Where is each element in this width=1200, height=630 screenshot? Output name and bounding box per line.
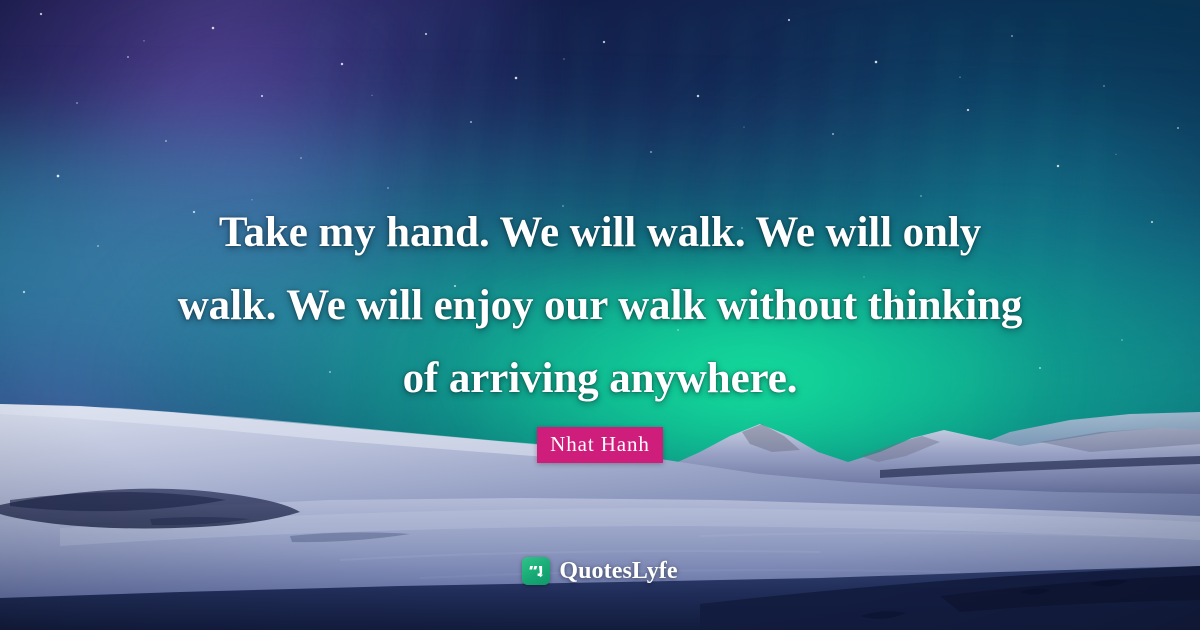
- quote-line-1: Take my hand. We will walk. We will only: [0, 196, 1200, 269]
- quote-line-2: walk. We will enjoy our walk without thi…: [0, 269, 1200, 342]
- quote-card: Take my hand. We will walk. We will only…: [0, 0, 1200, 630]
- quote-text: Take my hand. We will walk. We will only…: [0, 196, 1200, 415]
- brand-name: QuotesLyfe: [559, 559, 677, 583]
- author-attribution: Nhat Hanh: [0, 427, 1200, 463]
- quotation-mark-icon: [522, 557, 550, 585]
- author-name-badge: Nhat Hanh: [537, 427, 663, 463]
- brand-watermark: QuotesLyfe: [0, 557, 1200, 585]
- quote-line-3: of arriving anywhere.: [0, 342, 1200, 415]
